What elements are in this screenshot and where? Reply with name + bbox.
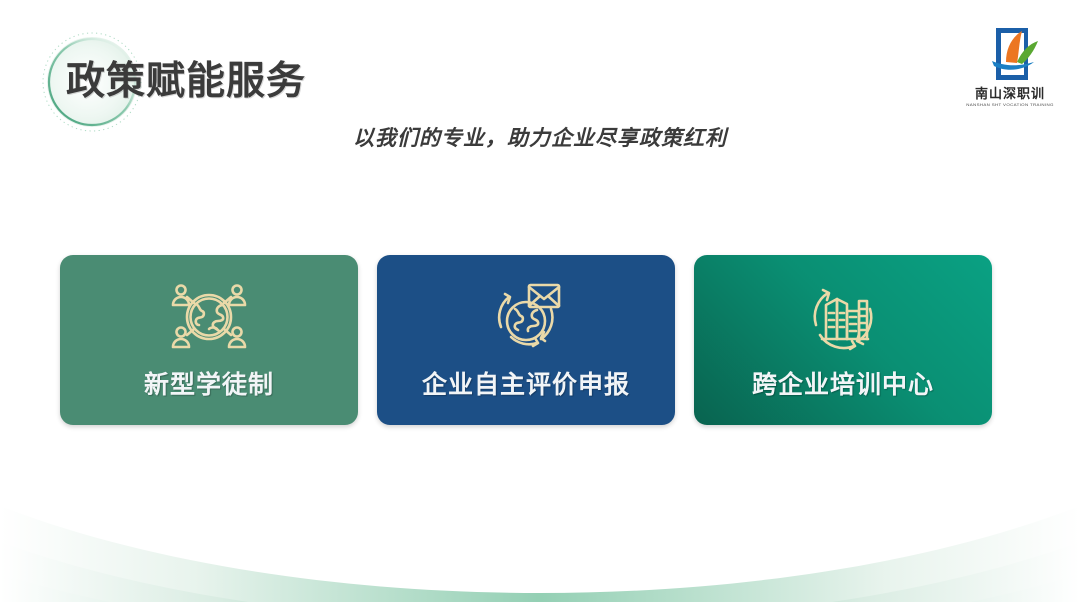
service-card-label: 新型学徒制: [60, 365, 358, 401]
service-card-label: 企业自主评价申报: [377, 365, 675, 401]
service-card-label: 跨企业培训中心: [694, 365, 992, 401]
organization-logo: 南山深职训 NANSHAN SHT VOCATION TRAINING: [962, 22, 1058, 116]
globe-envelope-cycle-icon: [483, 277, 569, 357]
logo-mark-icon: [962, 22, 1058, 86]
logo-name-en: NANSHAN SHT VOCATION TRAINING: [962, 101, 1058, 107]
globe-people-icon: [166, 277, 252, 357]
slide-subtitle: 以我们的专业，助力企业尽享政策红利: [0, 122, 1080, 152]
buildings-cycle-icon: [800, 277, 886, 357]
service-card-apprenticeship[interactable]: 新型学徒制: [60, 255, 358, 425]
service-card-self-evaluation[interactable]: 企业自主评价申报: [377, 255, 675, 425]
logo-name-cn: 南山深职训: [962, 87, 1058, 101]
slide-canvas: 政策赋能服务 以我们的专业，助力企业尽享政策红利 南山深职训 NANSHAN S…: [0, 0, 1080, 602]
service-card-list: 新型学徒制: [60, 255, 992, 425]
bottom-wave-decoration: [0, 482, 1080, 602]
service-card-training-center[interactable]: 跨企业培训中心: [694, 255, 992, 425]
page-title: 政策赋能服务: [66, 50, 306, 106]
